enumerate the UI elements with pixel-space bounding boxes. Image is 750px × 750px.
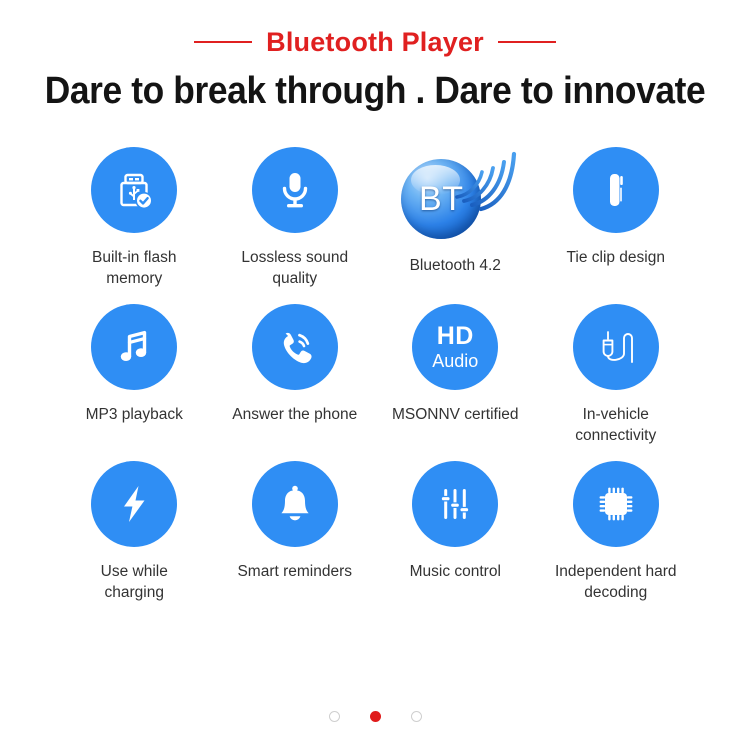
bell-icon bbox=[272, 481, 318, 527]
tie-clip-device-icon bbox=[593, 167, 639, 213]
feature-grid: Built-in flash memory Lossless sound qua… bbox=[0, 139, 750, 603]
audio-cable-plug-icon bbox=[593, 324, 639, 370]
title-rule-left bbox=[194, 41, 252, 43]
icon-wrap bbox=[91, 304, 177, 390]
feature-item[interactable]: Lossless sound quality bbox=[215, 139, 376, 290]
microphone-icon bbox=[272, 167, 318, 213]
phone-call-waves-icon bbox=[272, 324, 318, 370]
feature-label: Tie clip design bbox=[566, 247, 665, 268]
feature-item[interactable]: HD Audio MSONNV certified bbox=[375, 296, 536, 447]
icon-disc bbox=[252, 304, 338, 390]
feature-label: MP3 playback bbox=[86, 404, 183, 425]
icon-wrap bbox=[573, 147, 659, 233]
feature-item[interactable]: BT Bluetooth 4.2 bbox=[375, 139, 536, 290]
icon-wrap bbox=[252, 147, 338, 233]
feature-label: Answer the phone bbox=[232, 404, 357, 425]
feature-item[interactable]: Independent hard decoding bbox=[536, 453, 697, 604]
feature-label: In-vehicle connectivity bbox=[551, 404, 681, 447]
feature-label: Lossless sound quality bbox=[230, 247, 360, 290]
icon-disc bbox=[91, 304, 177, 390]
feature-item[interactable]: Use while charging bbox=[54, 453, 215, 604]
feature-label: Independent hard decoding bbox=[551, 561, 681, 604]
music-note-icon bbox=[111, 324, 157, 370]
bt-badge-text: BT bbox=[419, 180, 463, 219]
icon-wrap bbox=[252, 304, 338, 390]
icon-disc bbox=[573, 304, 659, 390]
feature-item[interactable]: In-vehicle connectivity bbox=[536, 296, 697, 447]
icon-disc bbox=[573, 461, 659, 547]
icon-wrap bbox=[91, 461, 177, 547]
title-row: Bluetooth Player bbox=[0, 26, 750, 58]
pagination-dot-1[interactable] bbox=[329, 711, 340, 722]
feature-label: Smart reminders bbox=[237, 561, 352, 582]
feature-item[interactable]: Answer the phone bbox=[215, 296, 376, 447]
cpu-chip-icon bbox=[593, 481, 639, 527]
icon-wrap bbox=[573, 461, 659, 547]
audio-label: Audio bbox=[432, 352, 478, 370]
bluetooth-signal-waves-icon bbox=[455, 141, 517, 213]
feature-item[interactable]: MP3 playback bbox=[54, 296, 215, 447]
feature-item[interactable]: Tie clip design bbox=[536, 139, 697, 290]
feature-item[interactable]: Smart reminders bbox=[215, 453, 376, 604]
carousel-pagination[interactable] bbox=[0, 711, 750, 722]
icon-wrap: BT bbox=[395, 147, 515, 247]
pagination-dot-3[interactable] bbox=[411, 711, 422, 722]
hd-label: HD bbox=[437, 324, 474, 349]
hd-audio-text-icon: HD Audio bbox=[432, 324, 478, 370]
page-header: Bluetooth Player Dare to break through .… bbox=[0, 0, 750, 113]
icon-wrap bbox=[412, 461, 498, 547]
icon-disc: HD Audio bbox=[412, 304, 498, 390]
icon-wrap: HD Audio bbox=[412, 304, 498, 390]
feature-item[interactable]: Music control bbox=[375, 453, 536, 604]
page-subtitle: Dare to break through . Dare to innovate bbox=[26, 70, 724, 113]
lightning-bolt-icon bbox=[111, 481, 157, 527]
feature-label: Music control bbox=[410, 561, 501, 582]
icon-disc bbox=[252, 147, 338, 233]
equalizer-sliders-icon bbox=[432, 481, 478, 527]
icon-disc bbox=[412, 461, 498, 547]
feature-label: Built-in flash memory bbox=[69, 247, 199, 290]
icon-disc bbox=[252, 461, 338, 547]
feature-item[interactable]: Built-in flash memory bbox=[54, 139, 215, 290]
icon-disc bbox=[91, 461, 177, 547]
usb-flash-drive-check-icon bbox=[111, 167, 157, 213]
feature-label: Use while charging bbox=[69, 561, 199, 604]
icon-wrap bbox=[91, 147, 177, 233]
pagination-dot-2-active[interactable] bbox=[370, 711, 381, 722]
icon-disc bbox=[91, 147, 177, 233]
icon-disc bbox=[573, 147, 659, 233]
icon-wrap bbox=[252, 461, 338, 547]
title-rule-right bbox=[498, 41, 556, 43]
feature-label: Bluetooth 4.2 bbox=[410, 255, 501, 276]
icon-wrap bbox=[573, 304, 659, 390]
page-title: Bluetooth Player bbox=[266, 27, 484, 58]
feature-label: MSONNV certified bbox=[392, 404, 519, 425]
